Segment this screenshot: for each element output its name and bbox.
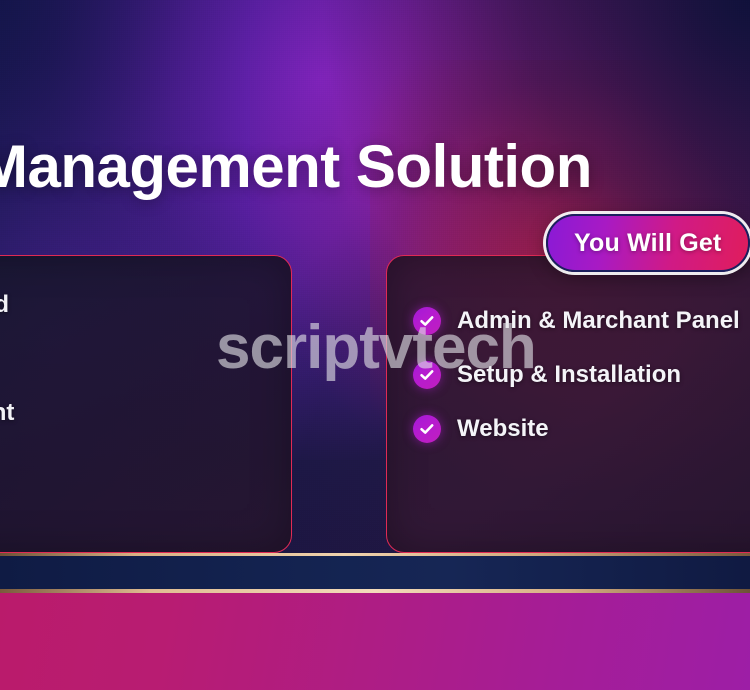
list-item: ashboard xyxy=(0,278,14,332)
list-item: gement xyxy=(0,440,14,494)
footer-bar: Laravel Elite Author xyxy=(0,593,750,690)
list-item: nagement xyxy=(0,386,14,440)
list-item: Website xyxy=(413,402,740,456)
list-item: Setup & Installation xyxy=(413,348,740,402)
check-circle-icon xyxy=(413,307,441,335)
deliverables-list: Admin & Marchant Panel Setup & Installat… xyxy=(413,294,740,456)
list-item: ement xyxy=(0,332,14,386)
feature-list: ashboard ement nagement gement ement xyxy=(0,278,14,548)
features-panel-left: ashboard ement nagement gement ement xyxy=(0,255,292,553)
list-item-label: Website xyxy=(457,415,549,443)
check-circle-icon xyxy=(413,415,441,443)
list-item: ement xyxy=(0,494,14,548)
check-circle-icon xyxy=(413,361,441,389)
you-will-get-badge: You Will Get xyxy=(546,214,750,272)
list-item-label: Admin & Marchant Panel xyxy=(457,307,740,335)
page-title: Management Solution xyxy=(0,132,698,202)
divider-navy-band xyxy=(0,556,750,589)
list-item: Admin & Marchant Panel xyxy=(413,294,740,348)
promo-banner: Management Solution ashboard ement nagem… xyxy=(0,0,750,690)
you-will-get-badge-label: You Will Get xyxy=(574,229,722,258)
you-will-get-panel: Admin & Marchant Panel Setup & Installat… xyxy=(386,255,750,553)
list-item-label: Setup & Installation xyxy=(457,361,681,389)
